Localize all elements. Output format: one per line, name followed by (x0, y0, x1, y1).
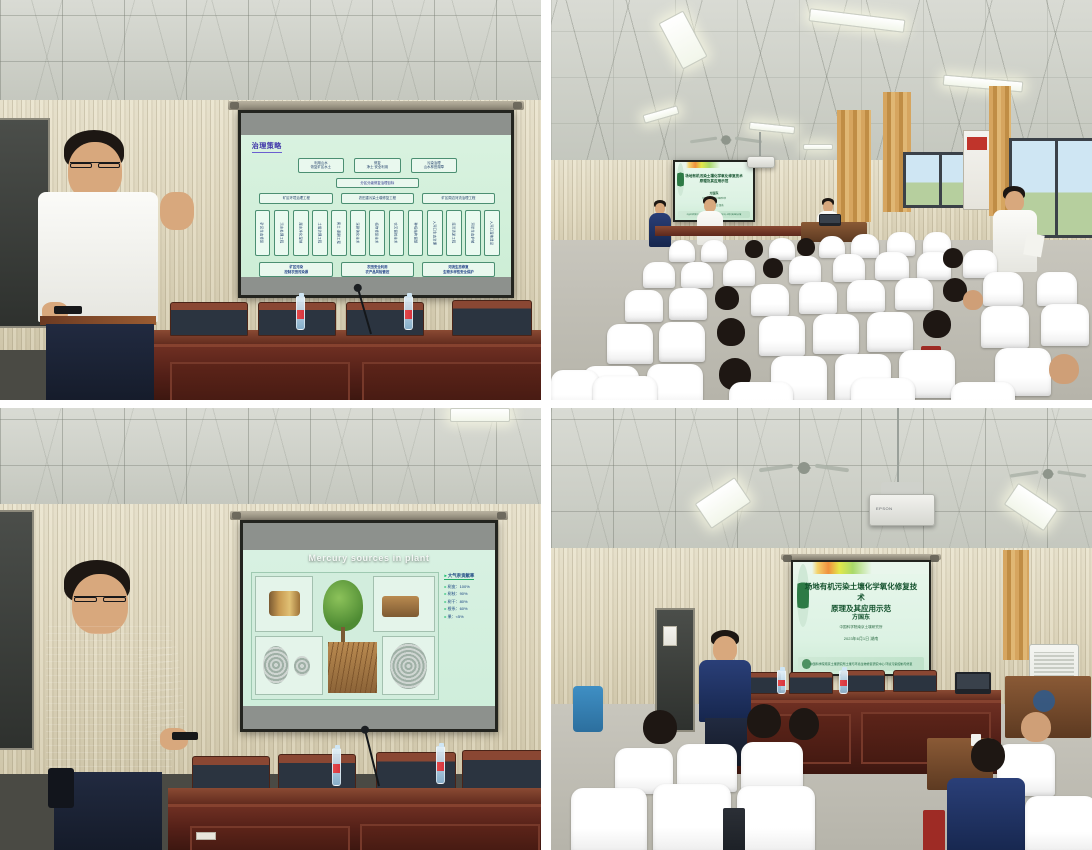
diagram-cell-root-section (382, 636, 434, 695)
mercury-diagram (251, 572, 440, 700)
glasses-icon (74, 596, 126, 600)
seat-cover (571, 788, 647, 850)
flowchart-node: 矿区环境治理工程 (259, 193, 333, 204)
notice-board (963, 130, 991, 210)
podium-panel-detail (360, 824, 540, 850)
seat-frame (923, 810, 945, 850)
audience-head (797, 238, 815, 256)
torso (947, 778, 1025, 850)
hand-open (160, 192, 194, 230)
chair (893, 670, 937, 692)
flowchart-vnode: 矿区生态修复 (255, 210, 271, 256)
legend-item: 树皮：100% (444, 584, 487, 590)
screen-bottom-band (241, 277, 511, 295)
seat-cover (723, 260, 755, 286)
seat-cover (741, 742, 803, 792)
seat-cover (701, 240, 727, 262)
head (1005, 191, 1024, 212)
slide-title: Mercury sources in plant (243, 553, 495, 563)
seat-cover (643, 262, 675, 288)
flowchart-vnode-label: 入河口湿地建设 (490, 221, 495, 245)
flowchart-vnode-label: 河岸生态护坡 (471, 222, 476, 243)
flowchart-vnode-label: 入河口生态治理 (432, 221, 437, 245)
projection-screen-assembly: 治理策略 利用山水 恢复矿区水土 修复 净土·安全利用 污染治理 山水林田湖草 … (238, 110, 514, 298)
lectern-emblem (1033, 690, 1055, 712)
slide-mercury-sources: Mercury sources in plant (243, 550, 495, 707)
flowchart-vnode-label: 深耕钝化技术 (356, 222, 361, 243)
flowchart-node: 利用山水 恢复矿区水土 (298, 158, 345, 173)
ceiling-fan (769, 460, 839, 476)
seat-cover (769, 238, 795, 260)
handout-paper (1023, 233, 1045, 258)
mercury-particle (294, 656, 310, 676)
flowchart-node: 分区分级修复治理目标 (336, 178, 420, 189)
seat-cover (789, 256, 821, 284)
flowchart-row-3: 矿区环境治理工程 农田重污染土壤修复工程 矿区周边河流治理工程 (255, 193, 501, 204)
flowchart-vnode: 尾水净化湿地 (293, 210, 309, 256)
legend-item: 树干：80% (444, 599, 487, 605)
speaker-person (30, 130, 220, 400)
audience-head (963, 290, 983, 310)
flowchart-vnode-label: 种植结构调整 (413, 222, 418, 243)
projector-mount-rod (759, 132, 761, 158)
flowchart-node: 河流生态修复 生物多样性安全保护 (422, 262, 496, 277)
slide-title: 治理策略 (252, 141, 282, 153)
audience-head (747, 704, 781, 738)
water-bottle (839, 670, 848, 694)
flowchart-vnode-label: 植物修复技术 (375, 222, 380, 243)
slide-main-title: 场地有机污染土壤化学氧化修复技术原理及其应用示范 (801, 582, 921, 615)
slide-presenter: 方国东 (675, 191, 753, 195)
legend-item: 根系：60% (444, 606, 487, 612)
seat-cover (833, 254, 865, 282)
audience-head (943, 248, 963, 268)
laptop (955, 672, 991, 694)
flowchart-row-2: 分区分级修复治理目标 (255, 178, 501, 189)
head (713, 636, 737, 662)
screen-roller-bar (228, 101, 524, 110)
audience-head (715, 286, 739, 310)
ceiling-fan (1018, 467, 1078, 481)
arm-left (28, 226, 64, 314)
slide-footer-text: 中国科学院南京土壤研究所土壤与环境生物修复研究中心 环境污染控制与修复 (810, 662, 913, 666)
scene-bottom-right: EPSON 场地有机污染土壤化学氧化修复技术原理及其应用示范 (551, 408, 1092, 850)
audience-head (717, 318, 745, 346)
chair (452, 300, 532, 336)
flowchart-vnode: 植物修复技术 (369, 210, 385, 256)
seat-cover (1037, 272, 1077, 306)
ceiling-perspective-lines (551, 408, 1092, 558)
audience-head (763, 258, 783, 278)
photo-top-left: 治理策略 利用山水 恢复矿区水土 修复 净土·安全利用 污染治理 山水林田湖草 … (0, 0, 546, 404)
diagram-cell-roots (326, 636, 378, 695)
ceiling-light (450, 408, 510, 422)
curtain (837, 110, 871, 222)
diagram-cell-litter (373, 576, 435, 632)
glasses-icon (70, 162, 120, 166)
legend-item: 树枝：90% (444, 591, 487, 597)
slide-header-band (675, 162, 753, 168)
arm-right (137, 644, 187, 742)
seat-cover (729, 382, 793, 400)
flowchart-node: 农田安全利用 农产品风险管控 (341, 262, 415, 277)
flowchart-vnode: 底泥清淤工程 (446, 210, 462, 256)
projection-screen: 治理策略 利用山水 恢复矿区水土 修复 净土·安全利用 污染治理 山水林田湖草 … (238, 110, 514, 298)
door-sign (663, 626, 677, 646)
water-bottle (436, 746, 445, 784)
seat-cover (737, 786, 815, 850)
seat-cover (847, 280, 885, 312)
audience-head (643, 710, 677, 744)
seat-base (723, 808, 745, 850)
seat-cover (799, 282, 837, 314)
screen-roller-bar (230, 511, 508, 520)
seat-cover (875, 252, 909, 280)
front-table (655, 226, 805, 236)
slide-footer: 中国科学院南京土壤研究所土壤与环境生物修复研究中心 环境污染控制与修复 (798, 657, 923, 670)
audience-head (745, 240, 763, 258)
flowchart-vnode: 客土·翻耕工程 (331, 210, 347, 256)
podium-panel-detail (362, 362, 541, 400)
seat-cover (895, 278, 933, 310)
audience-head (1021, 712, 1051, 742)
ceiling-perspective-lines (0, 408, 541, 512)
seat-cover (607, 324, 653, 364)
seat-cover (983, 272, 1023, 306)
photo-bottom-left: Mercury sources in plant (0, 404, 546, 850)
screen-top-band (241, 113, 511, 135)
legend-heading: 大气汞贡献率 (444, 573, 474, 580)
seat-cover (653, 784, 731, 850)
flowchart-vnode-label: 底泥清淤工程 (451, 222, 456, 243)
flowchart-vnode-label: 矿区生态修复 (260, 222, 265, 243)
flowchart-vnode: 入河口生态治理 (427, 210, 443, 256)
seat-cover (751, 284, 789, 316)
footer-logo (802, 659, 811, 668)
seat-cover (1025, 796, 1092, 850)
slide-figure-area: 大气汞贡献率 树皮：100% 树枝：90% 树干：80% 根系：60% 果：<5… (251, 572, 488, 700)
root-system (328, 642, 376, 693)
projection-screen: 场地有机污染土壤化学氧化修复技术原理及其应用示范 方国东 中国科学院南京土壤研究… (791, 560, 931, 676)
water-bottle (777, 670, 786, 694)
water-bottle (404, 296, 413, 330)
projector-brand-label: EPSON (876, 506, 893, 511)
flowchart: 利用山水 恢复矿区水土 修复 净土·安全利用 污染治理 山水林田湖草 分区分级修… (255, 158, 501, 272)
audience-head (1049, 354, 1079, 384)
flowchart-vnode-label: 客土·翻耕工程 (336, 222, 341, 244)
seat-cover (551, 370, 599, 400)
chair (789, 672, 833, 694)
screen-top-band (243, 523, 495, 550)
flowchart-vnode-label: 尾水净化湿地 (298, 222, 303, 243)
seat-cover (593, 376, 657, 400)
side-door (0, 510, 34, 750)
seat-cover (759, 316, 805, 356)
flowchart-row-1: 利用山水 恢复矿区水土 修复 净土·安全利用 污染治理 山水林田湖草 (255, 158, 501, 173)
seat-cover (981, 306, 1029, 348)
seat-cover (669, 288, 707, 320)
seat-cover (813, 314, 859, 354)
flowchart-node: 矿区污染 控制农田污染源 (259, 262, 333, 277)
flowchart-vnode: 入河口湿地建设 (484, 210, 500, 256)
water-bottle (296, 296, 305, 330)
litter-layer (382, 596, 419, 617)
ceiling-light (803, 144, 833, 150)
projection-screen: Mercury sources in plant (240, 520, 498, 732)
legend: 大气汞贡献率 树皮：100% 树枝：90% 树干：80% 根系：60% 果：<5… (442, 572, 487, 700)
flowchart-row-4: 矿区生态修复 污水处理工程 尾水净化湿地 土壤治理工程 客土·翻耕工程 深耕钝化… (255, 210, 501, 256)
trousers (46, 324, 154, 400)
flowchart-node: 修复 净土·安全利用 (354, 158, 401, 173)
seat-cover (625, 290, 663, 322)
flowchart-vnode-label: 农艺调控技术 (394, 222, 399, 243)
flowchart-vnode: 深耕钝化技术 (350, 210, 366, 256)
laser-pointer (172, 732, 198, 740)
slide-presenter: 方国东 (793, 612, 929, 621)
water-bottle (332, 748, 341, 786)
diagram-cell-leaf (255, 636, 322, 695)
flowchart-vnode-label: 污水处理工程 (279, 222, 284, 243)
photo-bottom-right: EPSON 场地有机污染土壤化学氧化修复技术原理及其应用示范 (546, 404, 1092, 850)
photo-top-right: 场地有机污染土壤化学氧化修复技术原理及其应用示范 方国东 中国科学院南京土壤研究… (546, 0, 1092, 404)
photo-collage: 治理策略 利用山水 恢复矿区水土 修复 净土·安全利用 污染治理 山水林田湖草 … (0, 0, 1092, 850)
speaker-person (42, 560, 228, 850)
flowchart-vnode: 河岸生态护坡 (465, 210, 481, 256)
tree-canopy (323, 580, 363, 631)
scene-top-right: 场地有机污染土壤化学氧化修复技术原理及其应用示范 方国东 中国科学院南京土壤研究… (551, 0, 1092, 400)
slide-main-title: 场地有机污染土壤化学氧化修复技术原理及其应用示范 (680, 174, 749, 184)
projection-screen-assembly: Mercury sources in plant (240, 520, 498, 732)
flowchart-vnode: 污水处理工程 (274, 210, 290, 256)
flowchart-vnode: 种植结构调整 (408, 210, 424, 256)
flowchart-row-5: 矿区污染 控制农田污染源 农田安全利用 农产品风险管控 河流生态修复 生物多样性… (255, 262, 501, 277)
flowchart-node: 农田重污染土壤修复工程 (341, 193, 415, 204)
chair (278, 754, 356, 792)
water-cooler (573, 686, 603, 732)
slide-date-location: 2023年6月1日 湖南 (793, 636, 929, 642)
slide-governance-strategy: 治理策略 利用山水 恢复矿区水土 修复 净土·安全利用 污染治理 山水林田湖草 … (241, 135, 511, 277)
bag-strap (48, 768, 74, 808)
slide-affiliation: 中国科学院南京土壤研究所 (793, 625, 929, 630)
screen-bottom-band (243, 706, 495, 729)
diagram-cell-trunk (255, 576, 313, 632)
projector-mount-rod (897, 408, 899, 488)
legend-item: 果：<5% (444, 614, 487, 620)
ceiling-perspective-lines (0, 0, 541, 108)
audience-head (923, 310, 951, 338)
ceiling (551, 408, 1092, 558)
slide-header-band (793, 562, 929, 574)
seat-cover (681, 262, 713, 288)
audience-person-right (947, 764, 1037, 850)
flowchart-vnode: 土壤治理工程 (312, 210, 328, 256)
seat-cover (951, 382, 1015, 400)
chair (462, 750, 541, 792)
scene-bottom-left: Mercury sources in plant (0, 408, 541, 850)
ceiling-projector (747, 156, 775, 168)
ceiling-projector: EPSON (869, 494, 935, 526)
root-cross-section (390, 643, 426, 689)
projection-screen-assembly: 场地有机污染土壤化学氧化修复技术原理及其应用示范 方国东 中国科学院南京土壤研究… (791, 560, 931, 676)
scene-top-left: 治理策略 利用山水 恢复矿区水土 修复 净土·安全利用 污染治理 山水林田湖草 … (0, 0, 541, 400)
audience-head (789, 708, 819, 740)
leaf-stoma-detail (263, 646, 289, 684)
seat-cover (659, 322, 705, 362)
seat-cover (851, 378, 915, 400)
flowchart-vnode-label: 土壤治理工程 (317, 222, 322, 243)
laptop (819, 214, 841, 226)
curtain (1003, 550, 1029, 660)
slide-title-slide: 场地有机污染土壤化学氧化修复技术原理及其应用示范 方国东 中国科学院南京土壤研究… (793, 562, 929, 674)
ceiling-fan (698, 134, 754, 147)
ceiling (0, 408, 541, 512)
ceiling (0, 0, 541, 108)
trunk-cross-section (269, 591, 300, 616)
seat-cover (1041, 304, 1089, 346)
seat-cover (867, 312, 913, 352)
seat-cover (669, 240, 695, 262)
flowchart-node: 矿区周边河流治理工程 (422, 193, 496, 204)
laser-pointer (54, 306, 82, 314)
flowchart-vnode: 农艺调控技术 (389, 210, 405, 256)
flowchart-node: 污染治理 山水林田湖草 (411, 158, 458, 173)
